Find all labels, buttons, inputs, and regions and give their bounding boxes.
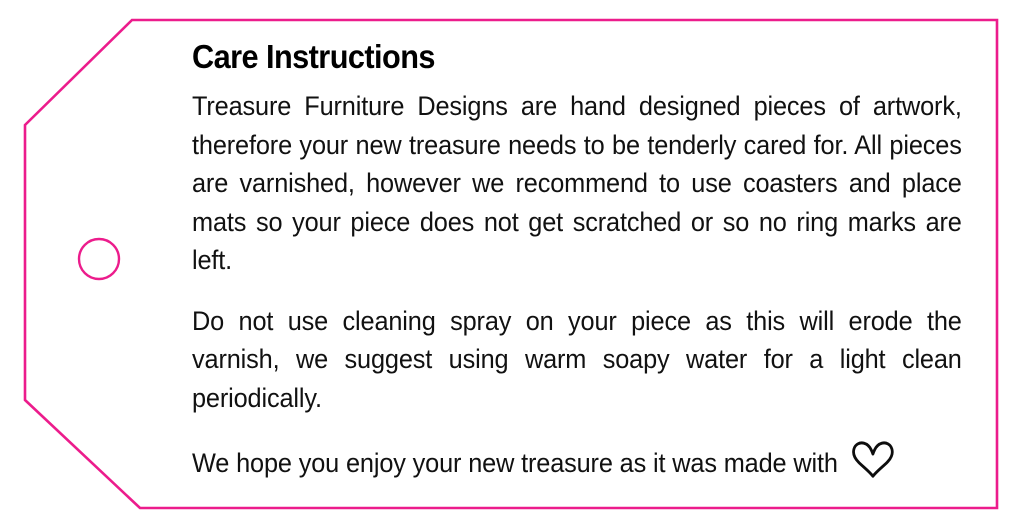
punch-hole-icon: [79, 239, 119, 279]
tag-text-block: Care Instructions Treasure Furniture Des…: [192, 38, 962, 483]
heart-outline-icon: [851, 439, 895, 479]
paragraph-intro: Treasure Furniture Designs are hand desi…: [192, 87, 962, 280]
closing-text: We hope you enjoy your new treasure as i…: [192, 448, 838, 478]
paragraph-closing: We hope you enjoy your new treasure as i…: [192, 439, 962, 483]
paragraph-cleaning: Do not use cleaning spray on your piece …: [192, 302, 962, 418]
care-instructions-tag: Care Instructions Treasure Furniture Des…: [0, 0, 1024, 531]
page-title: Care Instructions: [192, 38, 908, 76]
